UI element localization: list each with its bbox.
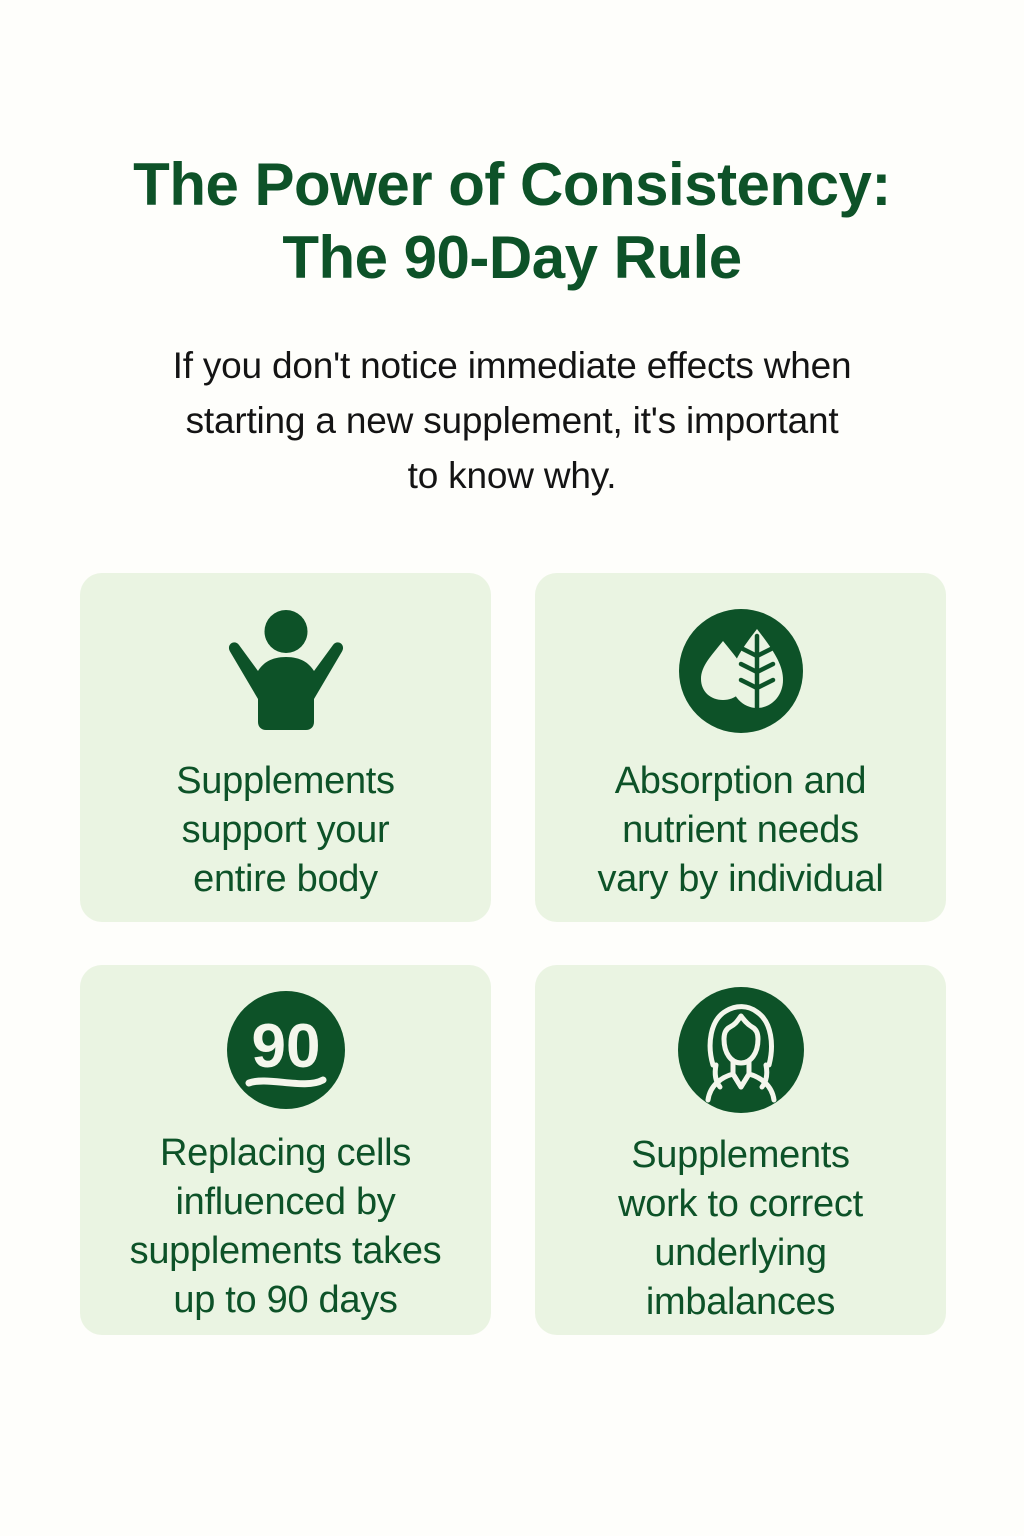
card-text: Supplements support your entire body bbox=[166, 757, 405, 904]
card-text: Absorption and nutrient needs vary by in… bbox=[587, 757, 893, 904]
card-text-line-1: Supplements bbox=[176, 757, 395, 806]
infographic-poster: The Power of Consistency: The 90-Day Rul… bbox=[0, 0, 1024, 1536]
page-subtitle-line-2: starting a new supplement, it's importan… bbox=[112, 393, 912, 448]
page-subtitle-line-1: If you don't notice immediate effects wh… bbox=[112, 338, 912, 393]
ninety-days-badge-icon: 90 bbox=[227, 991, 345, 1109]
card-text-line-3: underlying bbox=[618, 1229, 863, 1278]
page-subtitle: If you don't notice immediate effects wh… bbox=[112, 338, 912, 503]
card-ninety-day-cell-renewal: 90 Replacing cells influenced by supplem… bbox=[80, 965, 491, 1335]
page-title-line-2: The 90-Day Rule bbox=[72, 221, 952, 294]
card-text-line-3: vary by individual bbox=[597, 855, 883, 904]
header: The Power of Consistency: The 90-Day Rul… bbox=[0, 0, 1024, 503]
card-text-line-2: work to correct bbox=[618, 1180, 863, 1229]
person-arms-raised-icon bbox=[227, 609, 345, 731]
water-drop-leaf-icon bbox=[679, 609, 803, 733]
card-text-line-3: entire body bbox=[176, 855, 395, 904]
card-text-line-4: up to 90 days bbox=[130, 1276, 442, 1325]
card-text-line-3: supplements takes bbox=[130, 1227, 442, 1276]
card-text-line-1: Absorption and bbox=[597, 757, 883, 806]
woman-portrait-icon bbox=[678, 987, 804, 1113]
card-text: Supplements work to correct underlying i… bbox=[608, 1131, 873, 1327]
card-text-line-4: imbalances bbox=[618, 1278, 863, 1327]
card-text-line-2: support your bbox=[176, 806, 395, 855]
card-text-line-2: nutrient needs bbox=[597, 806, 883, 855]
page-subtitle-line-3: to know why. bbox=[112, 448, 912, 503]
card-text-line-1: Supplements bbox=[618, 1131, 863, 1180]
page-title: The Power of Consistency: The 90-Day Rul… bbox=[72, 148, 952, 294]
card-correct-underlying-imbalances: Supplements work to correct underlying i… bbox=[535, 965, 946, 1335]
card-absorption-varies: Absorption and nutrient needs vary by in… bbox=[535, 573, 946, 922]
page-title-line-1: The Power of Consistency: bbox=[72, 148, 952, 221]
ninety-badge-label: 90 bbox=[251, 1012, 320, 1081]
card-text-line-2: influenced by bbox=[130, 1178, 442, 1227]
card-grid: Supplements support your entire body bbox=[80, 573, 946, 1335]
card-text: Replacing cells influenced by supplement… bbox=[120, 1129, 452, 1325]
card-supplements-support-body: Supplements support your entire body bbox=[80, 573, 491, 922]
card-text-line-1: Replacing cells bbox=[130, 1129, 442, 1178]
